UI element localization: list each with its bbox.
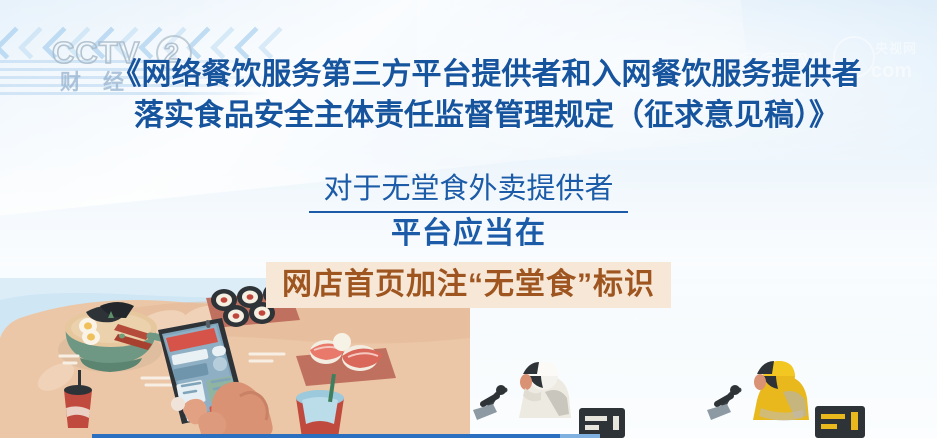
ramen-bowl-icon (58, 302, 176, 372)
subtitle-line-2-wrapper: 平台应当在 (0, 215, 937, 253)
lower-third-accent-bar (92, 434, 562, 438)
delivery-rider-yellow (707, 361, 865, 438)
subtitle-line-1-wrapper: 对于无堂食外卖提供者 (0, 172, 937, 213)
hand-holding-phone-icon (158, 318, 273, 438)
highlight-banner-wrapper: 网店首页加注“无堂食”标识 (0, 262, 937, 308)
lower-third-accent-bar-secondary (560, 434, 600, 438)
coffee-cup-icon (64, 370, 92, 428)
subtitle-line-2: 平台应当在 (391, 215, 546, 253)
headline-line-1: 《网络餐饮服务第三方平台提供者和入网餐饮服务提供者 (0, 54, 937, 95)
headline: 《网络餐饮服务第三方平台提供者和入网餐饮服务提供者 落实食品安全主体责任监督管理… (0, 54, 937, 136)
subtitle-line-1: 对于无堂食外卖提供者 (309, 172, 627, 213)
delivery-riders-illustration (467, 348, 937, 438)
delivery-rider-white (473, 362, 625, 438)
nigiri-platter-icon (296, 333, 396, 386)
drink-cup-icon (296, 374, 344, 438)
headline-line-2: 落实食品安全主体责任监督管理规定（征求意见稿）》 (0, 95, 937, 136)
highlight-banner: 网店首页加注“无堂食”标识 (266, 262, 671, 308)
broadcast-frame: CCTV 2 财经 CCTV 央视网 com 《网络餐饮服务第三方平台提供者和入… (0, 0, 937, 438)
